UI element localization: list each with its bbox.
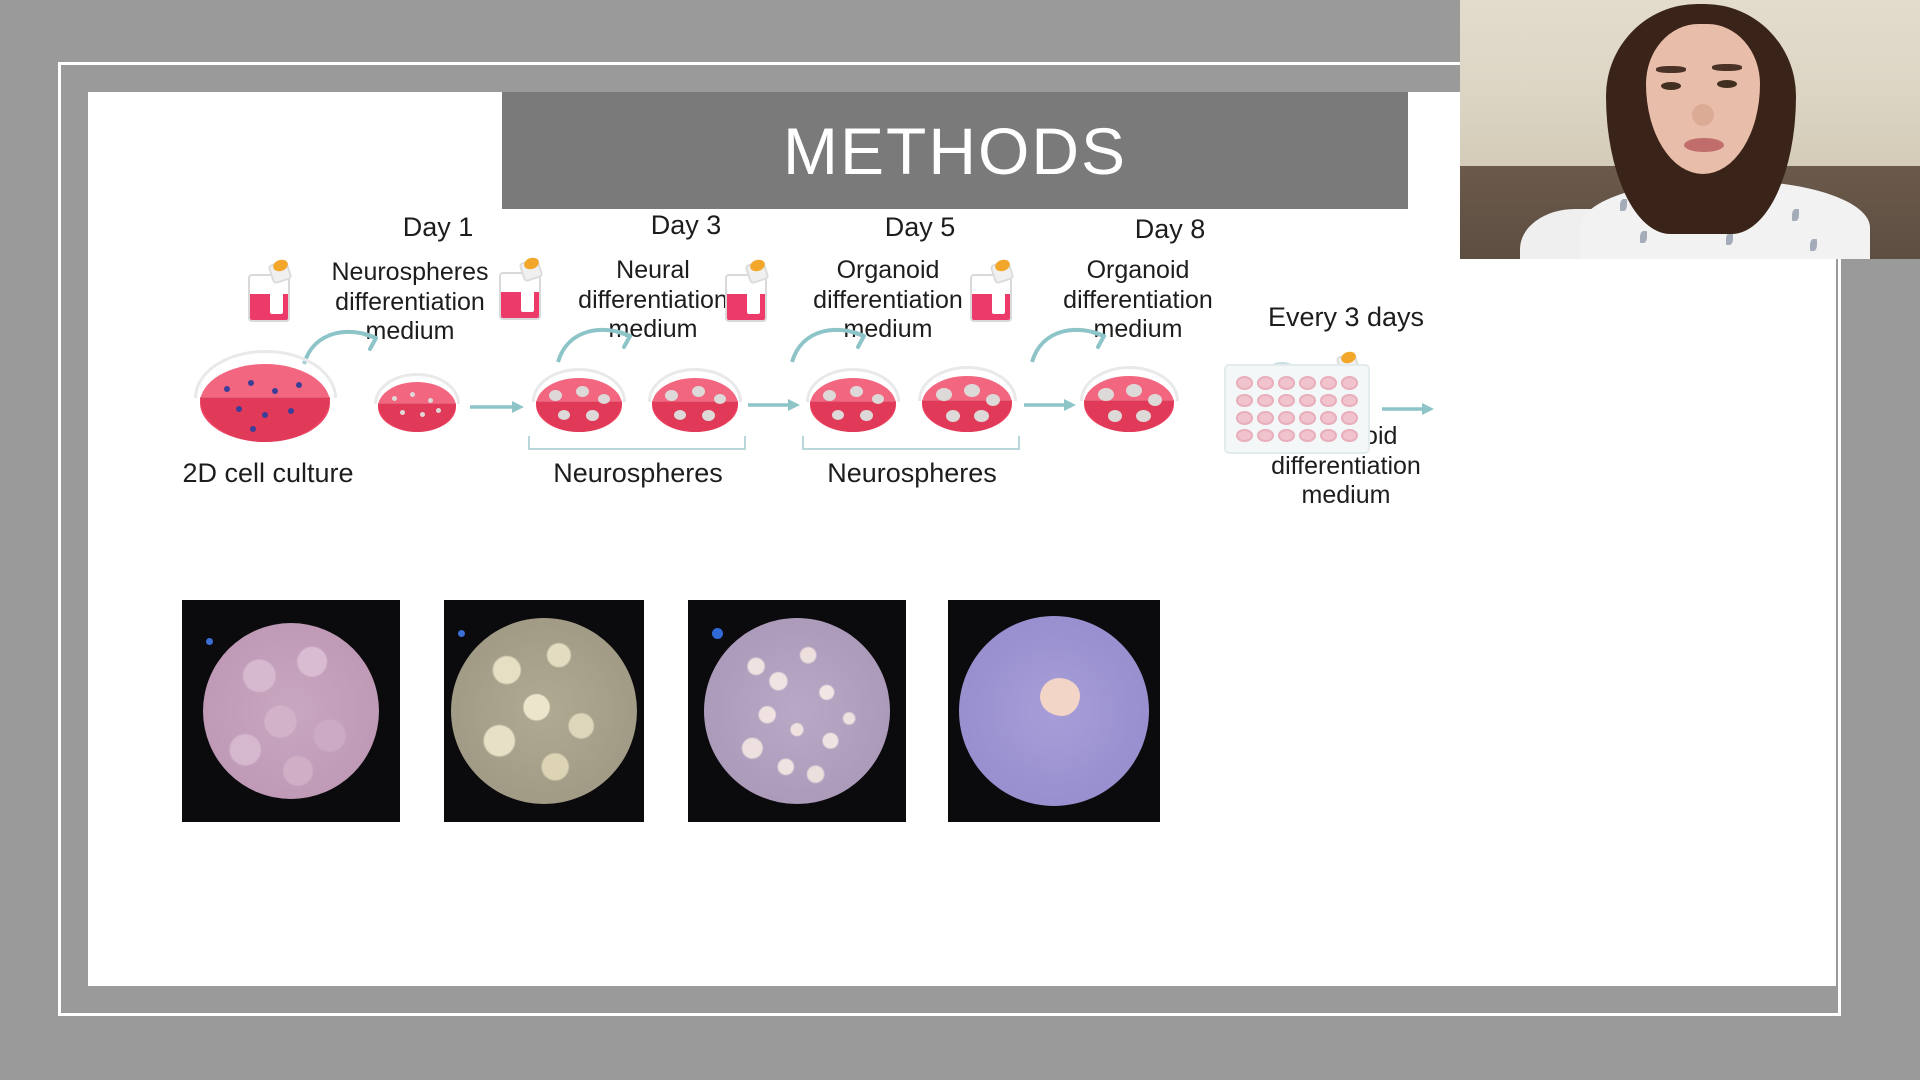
well [1341, 429, 1358, 443]
recurring-medium-line3: medium [1216, 481, 1476, 511]
day5-medium-line1: Organoid [785, 256, 991, 286]
stage-label-neurospheres-2: Neurospheres [814, 458, 1010, 489]
micrograph-row [88, 600, 1836, 860]
day1-flask-icon [248, 260, 292, 322]
dish-2d-culture [200, 364, 330, 442]
well [1236, 376, 1253, 390]
well [1236, 394, 1253, 408]
bracket-neurospheres-1 [528, 436, 746, 450]
recurring-medium-line2: differentiation [1216, 452, 1476, 482]
slide-title-banner: METHODS [502, 92, 1408, 209]
well [1299, 411, 1316, 425]
curved-arrow-1 [300, 322, 390, 368]
well [1278, 394, 1295, 408]
well [1299, 376, 1316, 390]
well [1257, 394, 1274, 408]
micro-field [203, 623, 379, 799]
well [1320, 411, 1337, 425]
day8-medium-line1: Organoid [1032, 256, 1244, 286]
dish-neurospheres-c [810, 378, 896, 432]
day3-flask-icon [499, 258, 543, 320]
lens-flare-speck [712, 628, 723, 639]
well [1320, 376, 1337, 390]
well [1299, 429, 1316, 443]
dish-dissociated [378, 382, 456, 432]
micrograph-neurospheres [688, 600, 906, 822]
well [1341, 376, 1358, 390]
day1-medium-line1: Neurospheres [310, 258, 510, 288]
recurring-day-label: Every 3 days [1226, 302, 1466, 333]
well [1341, 394, 1358, 408]
webcam-nose [1692, 104, 1714, 126]
dish-neurospheres-e [1084, 376, 1174, 432]
day8-label: Day 8 [1020, 214, 1320, 245]
well [1257, 429, 1274, 443]
well [1320, 429, 1337, 443]
webcam-mouth [1684, 138, 1724, 152]
webcam-brow-right [1712, 64, 1742, 71]
curved-arrow-4 [1028, 320, 1118, 366]
stage-label-2d-culture: 2D cell culture [178, 458, 358, 489]
day5-medium-line2: differentiation [785, 286, 991, 316]
day3-medium-line1: Neural [558, 256, 748, 286]
well [1236, 411, 1253, 425]
well [1341, 411, 1358, 425]
dish-neurospheres-d [922, 376, 1012, 432]
micrograph-2d-culture [182, 600, 400, 822]
curved-arrow-3 [788, 320, 878, 366]
curved-arrow-2 [554, 320, 644, 366]
well [1278, 411, 1295, 425]
micro-field [704, 618, 890, 804]
well [1236, 429, 1253, 443]
lens-flare-speck [458, 630, 465, 637]
webcam-brow-left [1656, 66, 1686, 73]
presenter-webcam[interactable] [1460, 0, 1920, 259]
micro-field [451, 618, 637, 804]
workflow-step-day8: Day 8 [1020, 214, 1320, 245]
stage-label-neurospheres-1: Neurospheres [540, 458, 736, 489]
day1-medium-line2: differentiation [310, 288, 510, 318]
day8-flask-icon [970, 260, 1014, 322]
well [1278, 429, 1295, 443]
webcam-eye-left [1661, 82, 1681, 90]
page-title: METHODS [783, 118, 1127, 184]
well [1320, 394, 1337, 408]
straight-arrow-4 [1382, 400, 1436, 418]
organoid-body [1040, 678, 1080, 716]
micrograph-neural-network [444, 600, 644, 822]
straight-arrow-1 [470, 398, 526, 416]
lens-flare-speck [206, 638, 213, 645]
well [1257, 376, 1274, 390]
bracket-neurospheres-2 [802, 436, 1020, 450]
day5-flask-icon [725, 260, 769, 322]
micrograph-organoid [948, 600, 1160, 822]
dish-neurospheres-b [652, 378, 738, 432]
workflow-diagram: Day 1 Neurospheres differentiation mediu… [88, 212, 1836, 602]
straight-arrow-3 [1024, 396, 1078, 414]
well [1299, 394, 1316, 408]
webcam-eye-right [1717, 80, 1737, 88]
day8-medium-line2: differentiation [1032, 286, 1244, 316]
day3-medium-line2: differentiation [558, 286, 748, 316]
dish-neurospheres-a [536, 378, 622, 432]
well [1257, 411, 1274, 425]
presentation-viewer: METHODS Day 1 Neurospheres differentiati… [0, 0, 1920, 1080]
straight-arrow-2 [748, 396, 802, 414]
24-well-plate [1224, 364, 1370, 454]
well [1278, 376, 1295, 390]
